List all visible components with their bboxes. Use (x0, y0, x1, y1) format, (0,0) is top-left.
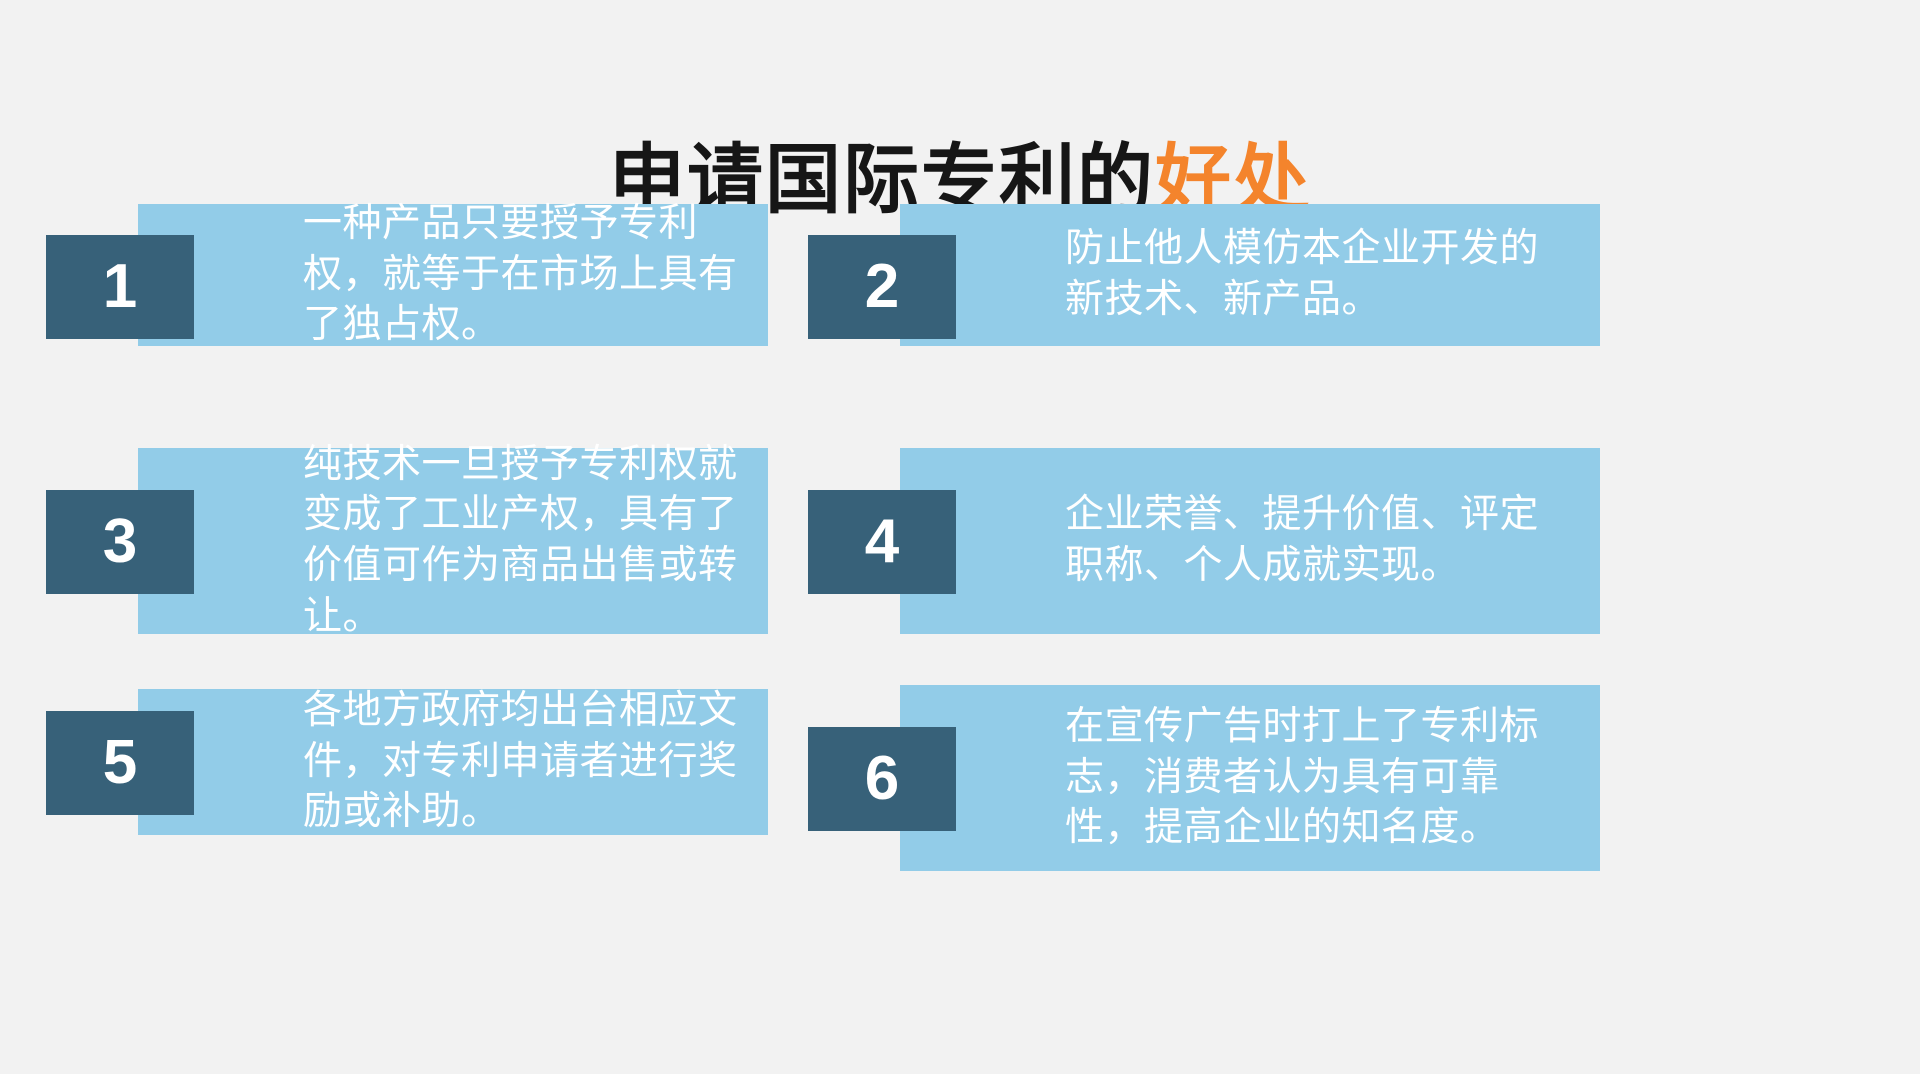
benefit-card-2-number: 2 (808, 235, 956, 339)
benefit-card-4-text: 企业荣誉、提升价值、评定职称、个人成就实现。 (900, 490, 1600, 591)
benefit-card-6-text: 在宣传广告时打上了专利标志，消费者认为具有可靠性，提高企业的知名度。 (900, 702, 1600, 854)
benefit-card-2[interactable]: 防止他人模仿本企业开发的新技术、新产品。 2 (808, 204, 1538, 354)
benefit-card-3-text: 纯技术一旦授予专利权就变成了工业产权，具有了价值可作为商品出售或转让。 (138, 440, 768, 643)
benefit-card-4[interactable]: 企业荣誉、提升价值、评定职称、个人成就实现。 4 (808, 448, 1538, 638)
benefit-card-1-panel: 一种产品只要授予专利权，就等于在市场上具有了独占权。 (138, 204, 768, 346)
infographic-page: 申请国际专利的好处 一种产品只要授予专利权，就等于在市场上具有了独占权。 1 防… (0, 0, 1920, 1074)
benefit-card-4-panel: 企业荣誉、提升价值、评定职称、个人成就实现。 (900, 448, 1600, 634)
benefit-card-4-number: 4 (808, 490, 956, 594)
benefit-card-6-number: 6 (808, 727, 956, 831)
benefit-card-1-number: 1 (46, 235, 194, 339)
benefit-card-5-number: 5 (46, 711, 194, 815)
benefit-card-5[interactable]: 各地方政府均出台相应文件，对专利申请者进行奖励或补助。 5 (46, 689, 776, 879)
benefit-card-2-text: 防止他人模仿本企业开发的新技术、新产品。 (900, 224, 1600, 325)
benefit-card-1-text: 一种产品只要授予专利权，就等于在市场上具有了独占权。 (138, 199, 768, 351)
benefit-card-3-number: 3 (46, 490, 194, 594)
benefit-card-grid: 一种产品只要授予专利权，就等于在市场上具有了独占权。 1 防止他人模仿本企业开发… (0, 196, 1920, 956)
benefit-card-5-text: 各地方政府均出台相应文件，对专利申请者进行奖励或补助。 (138, 686, 768, 838)
benefit-card-5-panel: 各地方政府均出台相应文件，对专利申请者进行奖励或补助。 (138, 689, 768, 835)
benefit-card-3-panel: 纯技术一旦授予专利权就变成了工业产权，具有了价值可作为商品出售或转让。 (138, 448, 768, 634)
benefit-card-3[interactable]: 纯技术一旦授予专利权就变成了工业产权，具有了价值可作为商品出售或转让。 3 (46, 448, 776, 638)
benefit-card-2-panel: 防止他人模仿本企业开发的新技术、新产品。 (900, 204, 1600, 346)
benefit-card-6-panel: 在宣传广告时打上了专利标志，消费者认为具有可靠性，提高企业的知名度。 (900, 685, 1600, 871)
benefit-card-6[interactable]: 在宣传广告时打上了专利标志，消费者认为具有可靠性，提高企业的知名度。 6 (808, 689, 1538, 879)
benefit-card-1[interactable]: 一种产品只要授予专利权，就等于在市场上具有了独占权。 1 (46, 204, 776, 354)
